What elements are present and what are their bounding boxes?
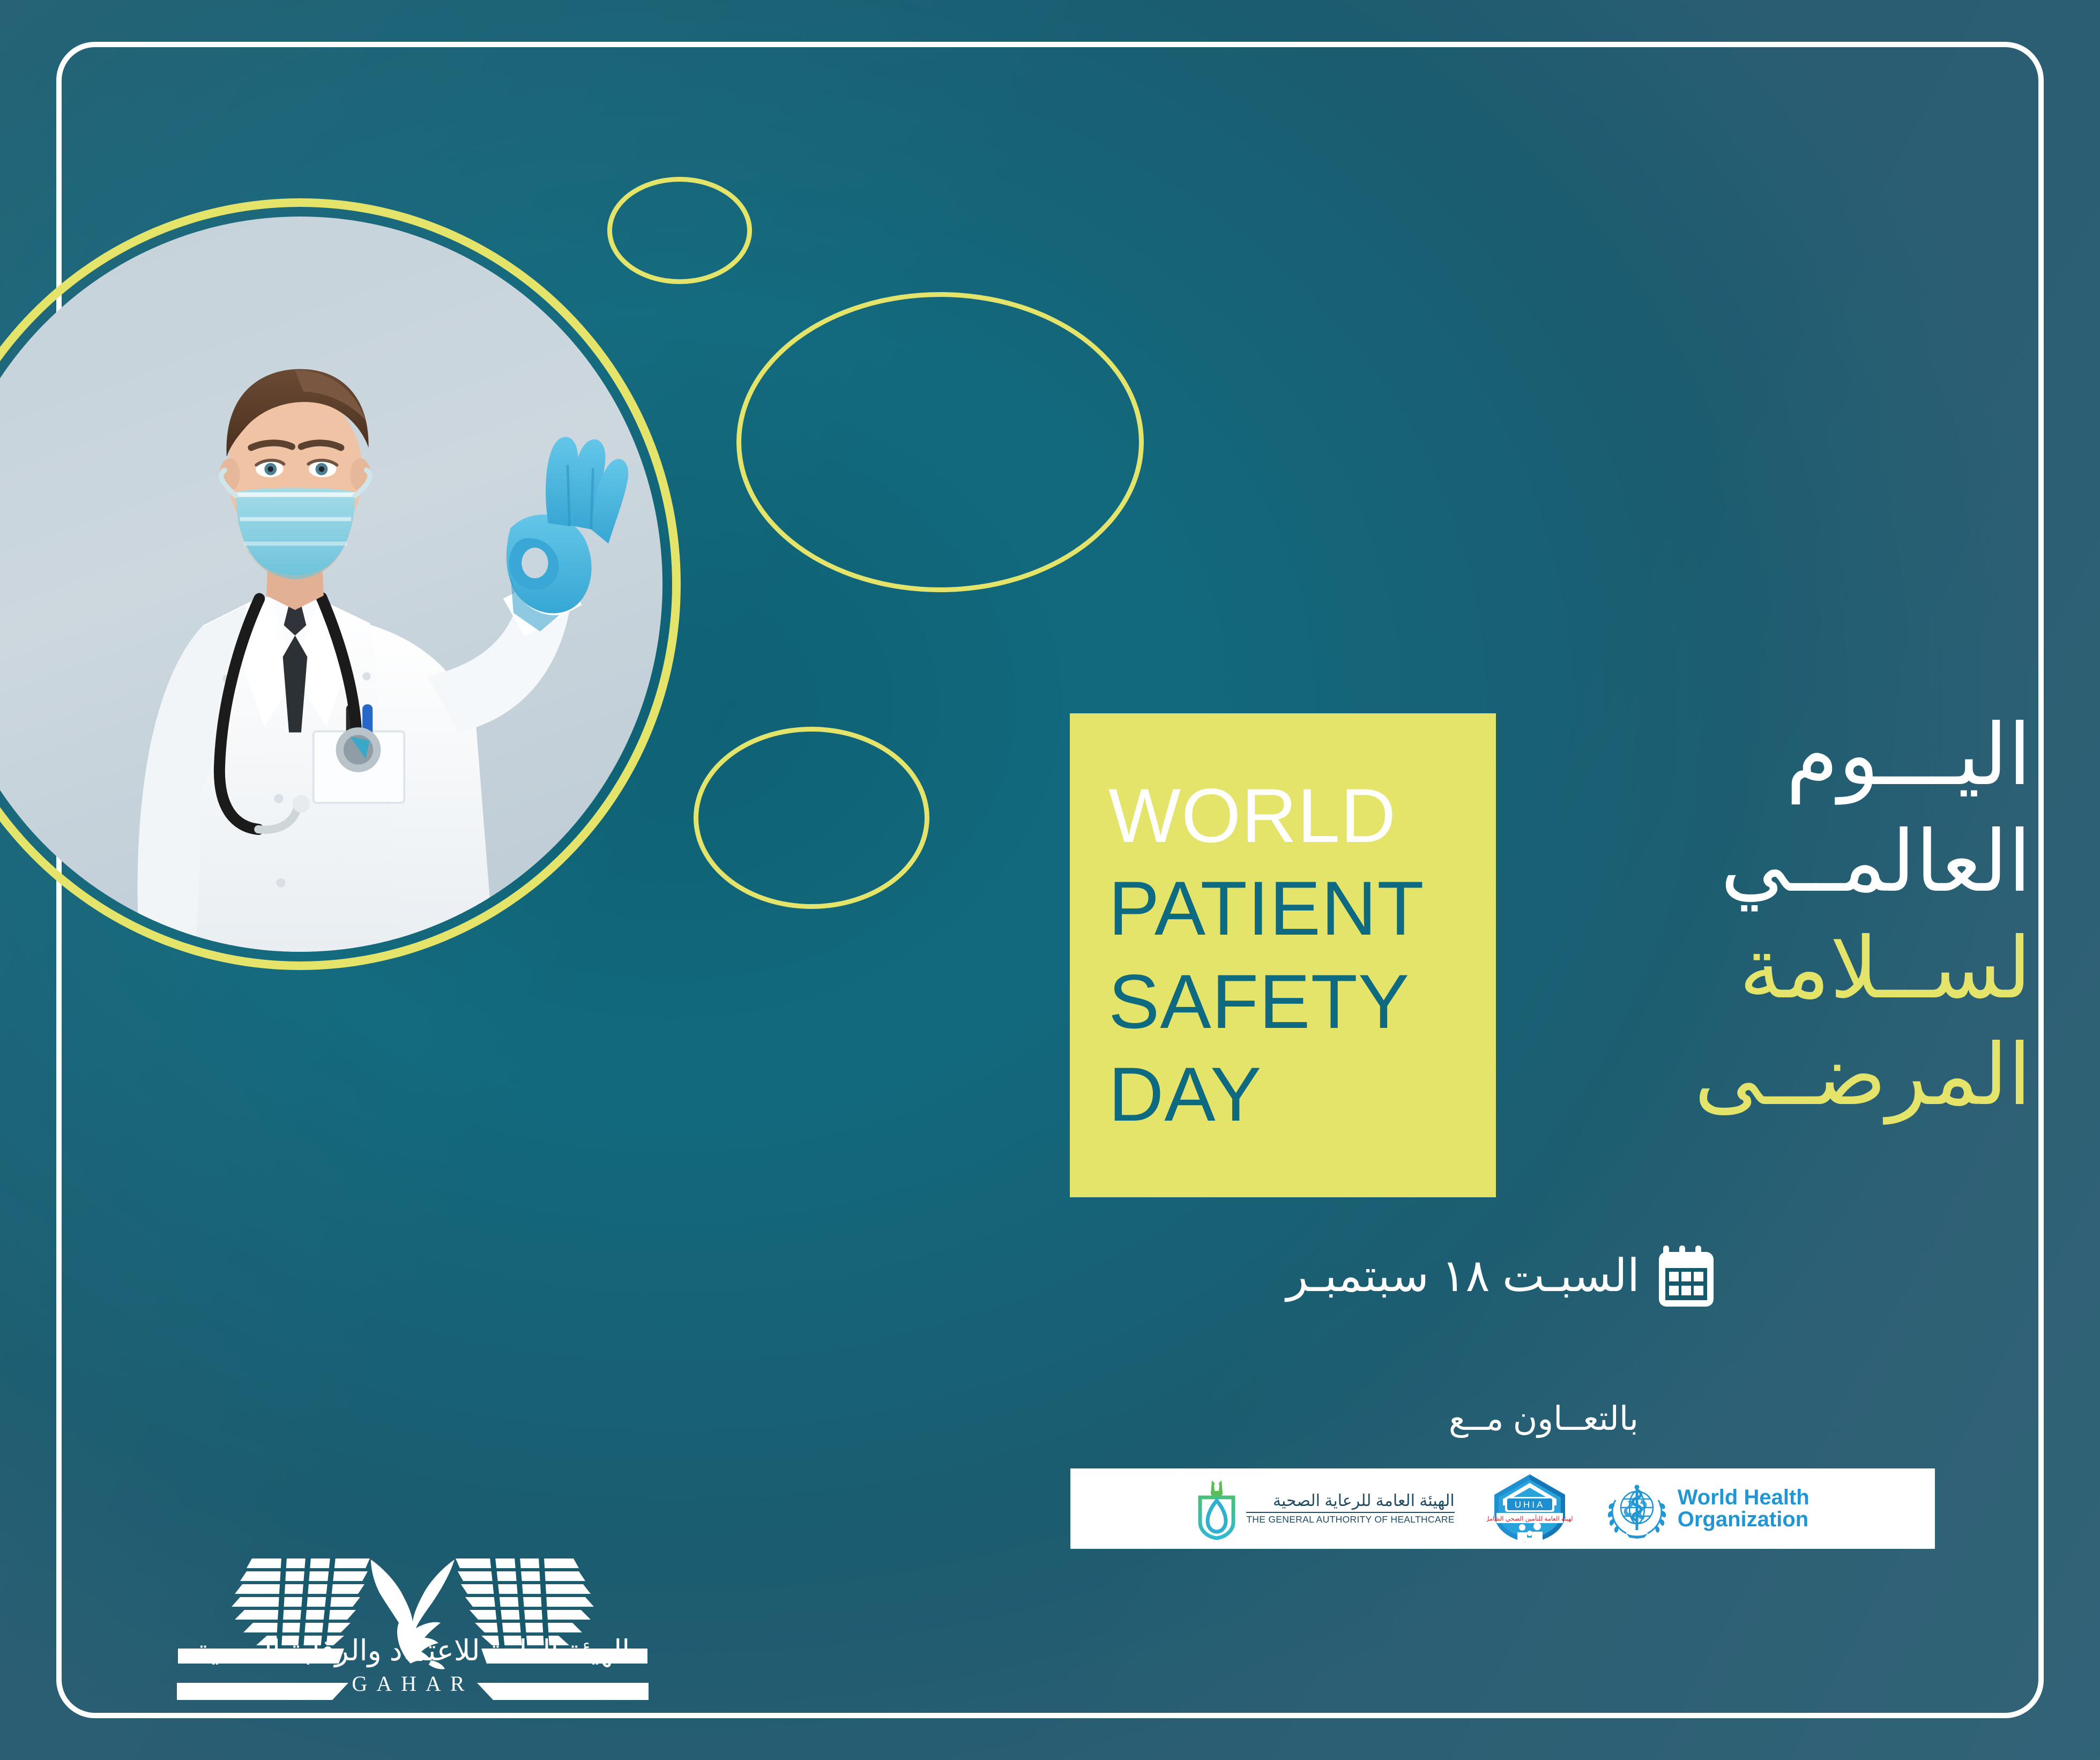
headline-en-line-4: DAY [1108,1048,1496,1141]
gahar-bottom-bars [172,1675,654,1707]
gahar-footer-logo: الهيئة العامة للاعتماد والرقابة الصحية G… [172,1543,654,1704]
headline-en-line-3: SAFETY [1108,956,1496,1048]
headline-ar-line-3: لســلامة [1517,915,2031,1022]
who-emblem-icon [1605,1476,1669,1541]
event-date-text: السبـت ١٨ سبتمبـر [1286,1249,1640,1302]
cooperation-label: بالتعــاون مــع [1276,1399,1812,1438]
deco-circle-small-bottom [694,727,929,909]
who-text-block: World Health Organization [1678,1487,1809,1531]
calendar-icon [1658,1243,1715,1308]
gah-arabic-name: الهيئة العامة للرعاية الصحية [1246,1493,1454,1513]
event-date-row: السبـت ١٨ سبتمبـر [1286,1227,1822,1324]
gah-text-block: الهيئة العامة للرعاية الصحية THE GENERAL… [1246,1493,1454,1525]
poster-canvas: WORLD PATIENT SAFETY DAY اليـــوم العالم… [0,0,2100,1760]
headline-en-line-1: WORLD [1108,770,1496,862]
uhia-shield-icon: UHIA الهيئة العامة للتأمين الصحي الشامل [1487,1473,1573,1544]
headline-ar-line-1: اليـــوم [1517,702,2031,809]
partners-logo-bar: الهيئة العامة للرعاية الصحية THE GENERAL… [1070,1468,1935,1549]
who-name-line-1: World Health [1678,1487,1809,1509]
headline-en-line-2: PATIENT [1108,862,1496,955]
partner-uhia: UHIA الهيئة العامة للتأمين الصحي الشامل [1487,1476,1573,1541]
gah-english-name: THE GENERAL AUTHORITY OF HEALTHCARE [1246,1515,1454,1525]
gah-tulip-shield-icon [1196,1477,1238,1540]
partner-world-health-organization: World Health Organization [1605,1476,1809,1541]
headline-ar-line-2: العالمــي [1517,809,2031,915]
deco-circle-large [736,292,1144,592]
doctor-photo-circle [0,198,681,970]
world-patient-safety-day-block: WORLD PATIENT SAFETY DAY [1070,713,1496,1197]
gahar-arabic-name: الهيئة العامة للاعتماد والرقابة الصحية [172,1634,654,1667]
headline-ar-line-4: المرضــى [1517,1022,2031,1129]
partner-general-authority-of-healthcare: الهيئة العامة للرعاية الصحية THE GENERAL… [1196,1476,1454,1541]
arabic-headline: اليـــوم العالمــي لســلامة المرضــى [1517,702,2031,1129]
who-name-line-2: Organization [1678,1509,1809,1531]
svg-text:UHIA: UHIA [1514,1500,1545,1510]
